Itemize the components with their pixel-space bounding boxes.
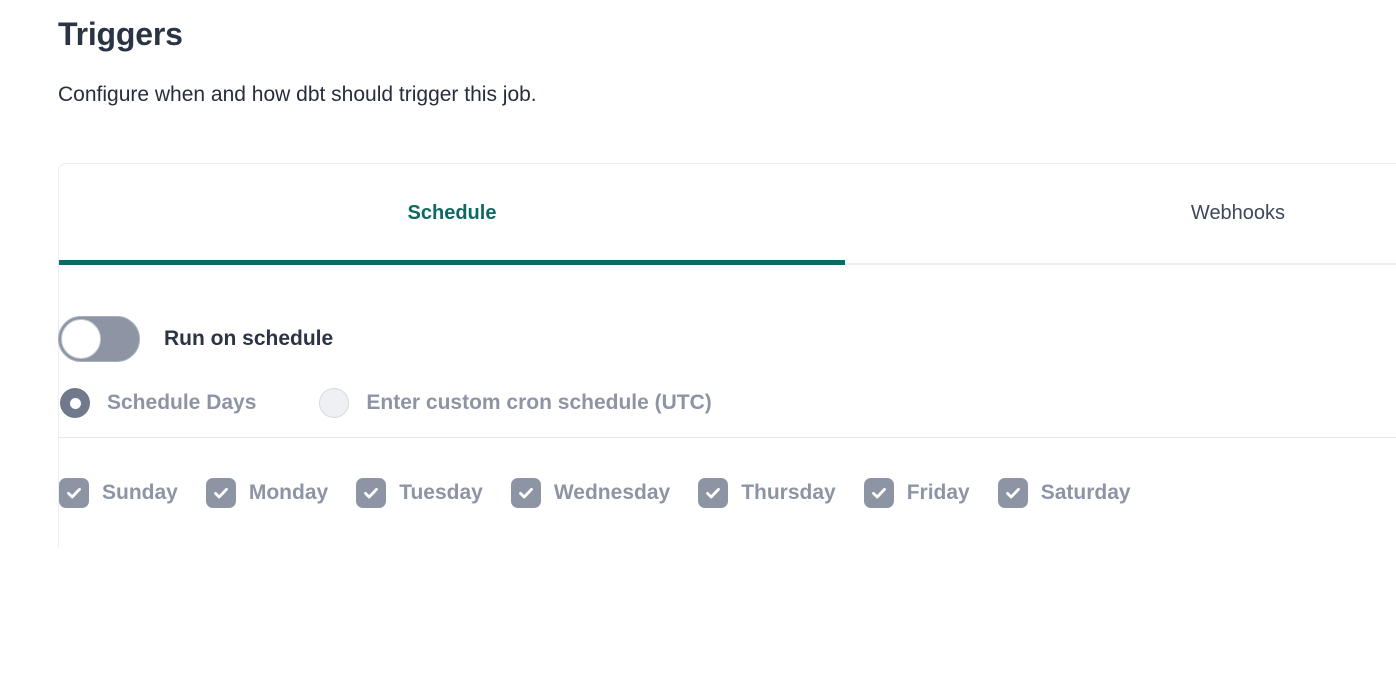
day-label-tuesday: Tuesday <box>399 481 483 505</box>
tab-schedule-label: Schedule <box>408 202 497 225</box>
page-subtitle: Configure when and how dbt should trigge… <box>58 80 537 110</box>
run-on-schedule-label: Run on schedule <box>164 327 333 351</box>
checkbox-checked-icon <box>206 478 236 508</box>
radio-label-custom-cron: Enter custom cron schedule (UTC) <box>366 391 711 415</box>
tab-webhooks-label: Webhooks <box>1191 202 1285 225</box>
radio-selected-icon <box>60 388 90 418</box>
checkbox-checked-icon <box>356 478 386 508</box>
schedule-mode-radio-group: Schedule Days Enter custom cron schedule… <box>59 369 1396 437</box>
checkbox-checked-icon <box>698 478 728 508</box>
checkbox-checked-icon <box>998 478 1028 508</box>
day-item-wednesday[interactable]: Wednesday <box>511 478 670 508</box>
radio-unselected-icon <box>319 388 349 418</box>
days-checkbox-group: Sunday Monday Tuesday Wednesday Thursday <box>59 438 1396 548</box>
page-title: Triggers <box>58 12 183 56</box>
checkbox-checked-icon <box>864 478 894 508</box>
toggle-knob <box>61 319 101 359</box>
day-item-monday[interactable]: Monday <box>206 478 328 508</box>
day-label-saturday: Saturday <box>1041 481 1131 505</box>
run-on-schedule-row: Run on schedule <box>58 265 1396 369</box>
day-item-friday[interactable]: Friday <box>864 478 970 508</box>
run-on-schedule-toggle[interactable] <box>58 316 140 362</box>
radio-option-schedule-days[interactable]: Schedule Days <box>60 388 256 418</box>
day-item-thursday[interactable]: Thursday <box>698 478 836 508</box>
tab-bar: Schedule Webhooks <box>59 164 1396 265</box>
day-item-tuesday[interactable]: Tuesday <box>356 478 483 508</box>
tab-webhooks[interactable]: Webhooks <box>845 164 1396 263</box>
day-label-friday: Friday <box>907 481 970 505</box>
radio-option-custom-cron[interactable]: Enter custom cron schedule (UTC) <box>319 388 711 418</box>
checkbox-checked-icon <box>59 478 89 508</box>
day-label-sunday: Sunday <box>102 481 178 505</box>
day-item-saturday[interactable]: Saturday <box>998 478 1131 508</box>
day-label-monday: Monday <box>249 481 328 505</box>
triggers-card: Schedule Webhooks Run on schedule Schedu… <box>58 163 1396 548</box>
radio-label-schedule-days: Schedule Days <box>107 391 256 415</box>
day-label-thursday: Thursday <box>741 481 836 505</box>
day-label-wednesday: Wednesday <box>554 481 670 505</box>
tab-schedule[interactable]: Schedule <box>59 164 845 263</box>
checkbox-checked-icon <box>511 478 541 508</box>
day-item-sunday[interactable]: Sunday <box>59 478 178 508</box>
